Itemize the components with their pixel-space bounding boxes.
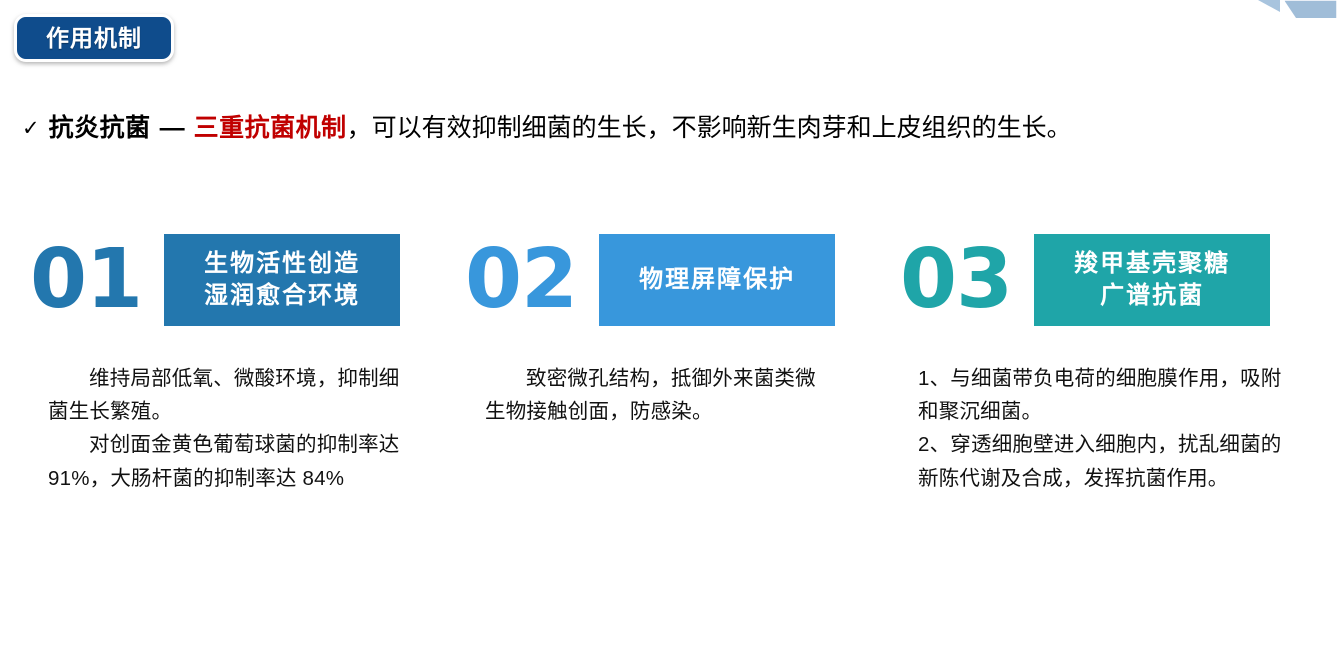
feature-column-02: 02 物理屏障保护 致密微孔结构，抵御外来菌类微生物接触创面，防感染。 — [465, 228, 885, 428]
feature-label-line-1: 物理屏障保护 — [639, 264, 795, 296]
feature-label-line-2: 广谱抗菌 — [1100, 280, 1204, 312]
headline-dash: — — [160, 113, 185, 144]
feature-column-03: 03 羧甲基壳聚糖 广谱抗菌 1、与细菌带负电荷的细胞膜作用，吸附和聚沉细菌。 … — [900, 228, 1300, 495]
feature-body-02: 致密微孔结构，抵御外来菌类微生物接触创面，防感染。 — [485, 362, 825, 428]
deco-triangle-icon — [1258, 0, 1280, 12]
feature-number-03: 03 — [900, 239, 1012, 321]
top-right-ribbon-decoration — [1240, 0, 1337, 26]
feature-body-03: 1、与细菌带负电荷的细胞膜作用，吸附和聚沉细菌。 2、穿透细胞壁进入细胞内，扰乱… — [918, 362, 1290, 495]
section-title-label: 作用机制 — [46, 27, 142, 50]
headline-rest: ，可以有效抑制细菌的生长，不影响新生肉芽和上皮组织的生长。 — [347, 113, 1072, 144]
feature-label-box-01: 生物活性创造 湿润愈合环境 — [164, 234, 400, 326]
feature-column-01: 01 生物活性创造 湿润愈合环境 维持局部低氧、微酸环境，抑制细菌生长繁殖。 对… — [30, 228, 450, 495]
feature-header-01: 01 生物活性创造 湿润愈合环境 — [30, 228, 450, 332]
feature-label-line-1: 生物活性创造 — [204, 248, 360, 280]
headline-accent: 三重抗菌机制 — [194, 113, 347, 144]
feature-number-02: 02 — [465, 239, 577, 321]
headline-lead: 抗炎抗菌 — [49, 113, 151, 144]
section-title-badge: 作用机制 — [14, 14, 174, 62]
feature-label-box-02: 物理屏障保护 — [599, 234, 835, 326]
deco-trapezoid-icon — [1284, 0, 1337, 18]
feature-number-01: 01 — [30, 239, 142, 321]
feature-header-03: 03 羧甲基壳聚糖 广谱抗菌 — [900, 228, 1300, 332]
feature-body-01: 维持局部低氧、微酸环境，抑制细菌生长繁殖。 对创面金黄色葡萄球菌的抑制率达 91… — [48, 362, 408, 495]
feature-label-box-03: 羧甲基壳聚糖 广谱抗菌 — [1034, 234, 1270, 326]
feature-header-02: 02 物理屏障保护 — [465, 228, 885, 332]
headline-row: ✓ 抗炎抗菌 — 三重抗菌机制 ，可以有效抑制细菌的生长，不影响新生肉芽和上皮组… — [22, 113, 1317, 144]
feature-paragraph: 1、与细菌带负电荷的细胞膜作用，吸附和聚沉细菌。 — [918, 362, 1290, 428]
feature-paragraph: 维持局部低氧、微酸环境，抑制细菌生长繁殖。 — [48, 362, 408, 428]
feature-paragraph: 致密微孔结构，抵御外来菌类微生物接触创面，防感染。 — [485, 362, 825, 428]
deco-frame-line — [1284, 0, 1337, 19]
feature-paragraph: 2、穿透细胞壁进入细胞内，扰乱细菌的新陈代谢及合成，发挥抗菌作用。 — [918, 428, 1290, 494]
checkmark-icon: ✓ — [22, 116, 40, 142]
feature-label-line-2: 湿润愈合环境 — [204, 280, 360, 312]
feature-label-line-1: 羧甲基壳聚糖 — [1074, 248, 1230, 280]
feature-paragraph: 对创面金黄色葡萄球菌的抑制率达 91%，大肠杆菌的抑制率达 84% — [48, 428, 408, 494]
